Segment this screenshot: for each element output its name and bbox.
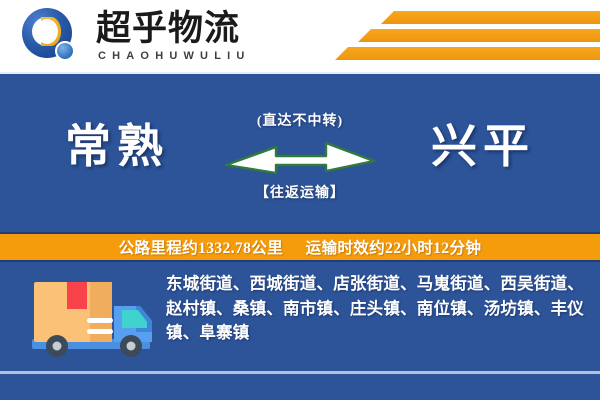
logistics-route-banner: 超乎物流 CHAOHUWULIU 常熟 (直达不中转) 【往返运输】 兴平 公路…	[0, 0, 600, 400]
roundtrip-note-label: 【往返运输】	[218, 182, 382, 202]
distance-label: 公路里程约1332.78公里	[119, 240, 283, 257]
double-arrow-icon	[218, 134, 382, 180]
stripe-1	[381, 11, 600, 24]
bottom-divider	[0, 371, 600, 374]
double-arrow-svg	[220, 135, 380, 179]
delivery-truck-icon	[30, 276, 162, 366]
brand-name-cn: 超乎物流	[96, 9, 240, 49]
delivery-truck-svg	[30, 276, 162, 366]
route-middle-group: (直达不中转) 【往返运输】	[218, 104, 382, 216]
duration-label: 运输时效约22小时12分钟	[306, 240, 482, 257]
coverage-panel: 东城街道、西城街道、店张街道、马嵬街道、西吴街道、赵村镇、桑镇、南市镇、庄头镇、…	[0, 262, 600, 400]
info-bar: 公路里程约1332.78公里 运输时效约22小时12分钟	[0, 232, 600, 262]
route-panel: 常熟 (直达不中转) 【往返运输】 兴平	[0, 72, 600, 234]
coverage-areas-text: 东城街道、西城街道、店张街道、马嵬街道、西吴街道、赵村镇、桑镇、南市镇、庄头镇、…	[166, 272, 584, 346]
destination-city: 兴平	[388, 118, 578, 176]
logo-crescent-cutout-shape	[36, 19, 58, 44]
origin-city: 常熟	[22, 118, 212, 176]
direct-note-label: (直达不中转)	[218, 110, 382, 130]
header: 超乎物流 CHAOHUWULIU	[0, 0, 600, 72]
header-stripes-decoration	[330, 6, 600, 68]
q-circle-logo-icon	[22, 8, 80, 66]
stripe-3	[335, 47, 600, 60]
logo-dot-shape	[55, 41, 75, 61]
stripe-2	[358, 29, 600, 42]
brand-name-en: CHAOHUWULIU	[98, 50, 251, 62]
info-bar-text: 公路里程约1332.78公里 运输时效约22小时12分钟	[119, 236, 482, 258]
